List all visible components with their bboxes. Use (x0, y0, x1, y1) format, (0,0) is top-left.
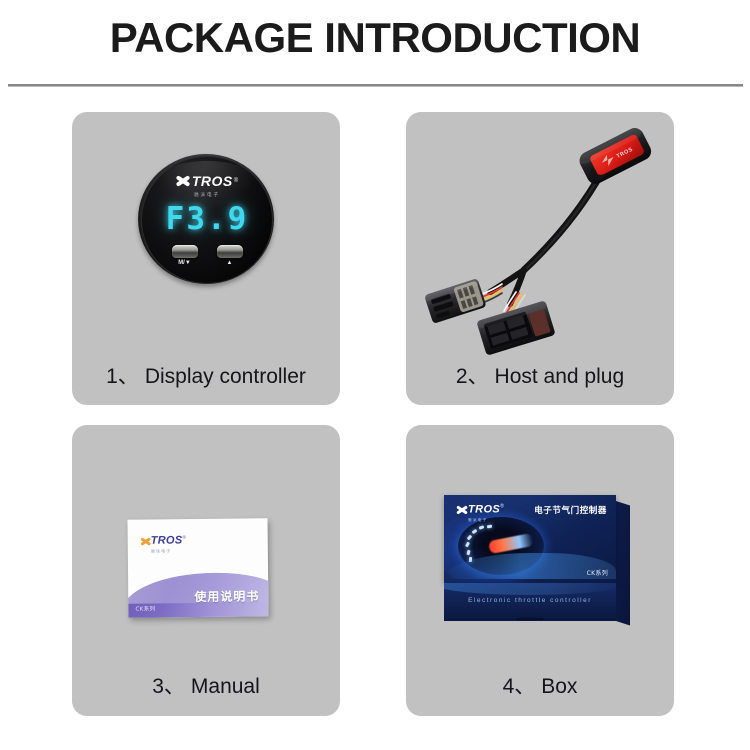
round-controller: TROS ® 驰派电子 F3.9 M/▼ (136, 142, 276, 286)
up-button[interactable]: ▲ (216, 245, 244, 266)
registered-mark: ® (182, 535, 186, 541)
controller-face: TROS ® 驰派电子 F3.9 M/▼ (141, 156, 273, 284)
package-item-manual[interactable]: TROS® 驰派电子 使用说明书 CK系列 3、Manual (72, 425, 340, 716)
panel-caption: 2、Host and plug (406, 360, 674, 390)
star-icon (176, 173, 191, 188)
xtros-brand-logo: TROS ® 驰派电子 (142, 173, 272, 198)
brand-wordmark: TROS (151, 534, 183, 546)
up-button-label: ▲ (216, 260, 244, 266)
product-image-display-controller: TROS ® 驰派电子 F3.9 M/▼ (72, 112, 340, 357)
retail-box: TROS® 驰派电子 电子节气门控制器 CK系列 Electronic thro… (444, 495, 630, 623)
brand-subtext: 驰派电子 (468, 519, 504, 523)
panel-caption: 3、Manual (72, 670, 340, 700)
panel-caption-text: Manual (191, 675, 260, 698)
panel-caption-text: Box (541, 675, 577, 698)
box-front-text: Electronic throttle controller (444, 597, 616, 604)
package-contents-grid: TROS ® 驰派电子 F3.9 M/▼ (0, 0, 750, 750)
panel-caption-text: Host and plug (495, 365, 625, 388)
controller-button-row: M/▼ ▲ (142, 245, 272, 266)
lcd-readout: F3.9 (142, 201, 272, 237)
box-front-streak (444, 583, 616, 595)
box-title-chinese: 电子节气门控制器 (534, 504, 607, 516)
package-item-host-and-plug[interactable]: TROS (406, 112, 674, 405)
star-icon (456, 504, 468, 516)
panel-index: 2、 (456, 365, 489, 388)
brand-wordmark: TROS (468, 503, 500, 515)
package-item-display-controller[interactable]: TROS ® 驰派电子 F3.9 M/▼ (72, 112, 340, 405)
product-image-manual: TROS® 驰派电子 使用说明书 CK系列 (72, 425, 340, 670)
brand-subtext: 驰派电子 (151, 550, 186, 554)
manual-booklet: TROS® 驰派电子 使用说明书 CK系列 (127, 518, 268, 617)
box-brand-logo: TROS® 驰派电子 (456, 502, 504, 523)
panel-caption-text: Display controller (145, 365, 306, 388)
brand-wordmark: TROS (192, 174, 233, 188)
controller-rim: TROS ® 驰派电子 F3.9 M/▼ (138, 154, 274, 284)
panel-caption: 4、Box (406, 670, 674, 700)
host-harness-illustration: TROS (406, 112, 674, 357)
panel-caption: 1、Display controller (72, 360, 340, 390)
manual-cover-title: 使用说明书 (194, 587, 259, 605)
up-button-cap (217, 245, 243, 258)
mode-down-button-cap (172, 245, 198, 258)
panel-index: 4、 (503, 675, 536, 698)
mode-down-button-label: M/▼ (171, 260, 199, 266)
panel-index: 1、 (106, 365, 139, 388)
manual-series-label: CK系列 (135, 604, 155, 612)
box-front-face: Electronic throttle controller (444, 583, 616, 621)
registered-mark: ® (500, 504, 504, 510)
package-item-box[interactable]: TROS® 驰派电子 电子节气门控制器 CK系列 Electronic thro… (406, 425, 674, 716)
box-top-face: TROS® 驰派电子 电子节气门控制器 CK系列 (444, 495, 616, 583)
box-side-face (616, 501, 630, 626)
brand-subtext: 驰派电子 (142, 193, 272, 198)
product-image-box: TROS® 驰派电子 电子节气门控制器 CK系列 Electronic thro… (406, 425, 674, 670)
mode-down-button[interactable]: M/▼ (171, 245, 199, 266)
box-series-label: CK系列 (587, 568, 608, 577)
registered-mark: ® (234, 178, 238, 184)
box-front-notch (517, 618, 543, 621)
panel-index: 3、 (152, 675, 185, 698)
star-icon (140, 536, 151, 547)
product-image-host-and-plug: TROS (406, 112, 674, 357)
manual-brand-logo: TROS® 驰派电子 (140, 533, 187, 554)
